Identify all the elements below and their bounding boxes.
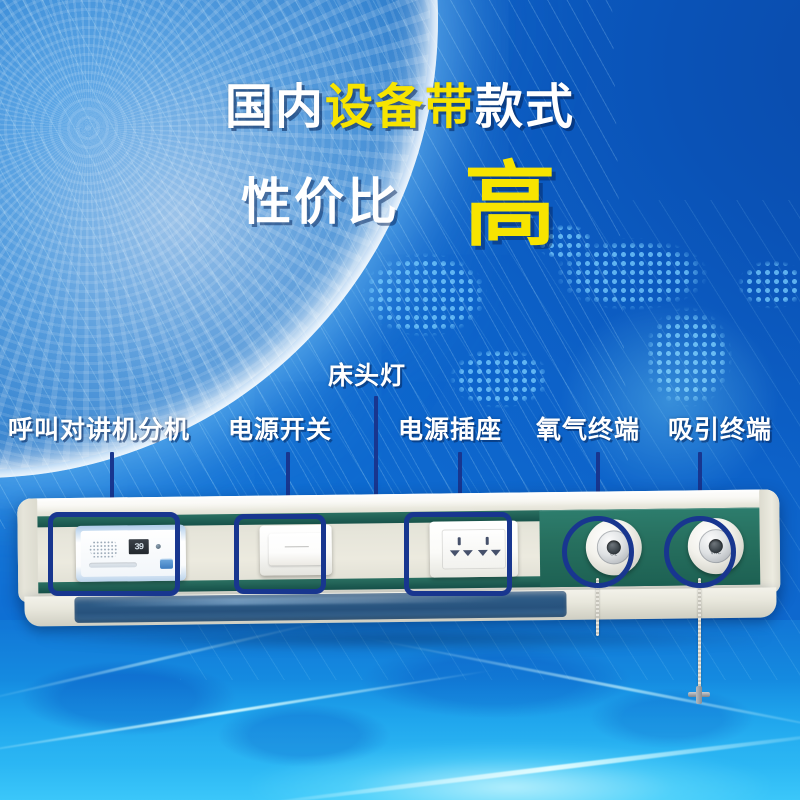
headline-price-ratio-text: 性价比 xyxy=(241,177,400,227)
intercom-call-button[interactable] xyxy=(160,559,173,569)
fitting-stem xyxy=(696,686,702,704)
status-led-icon xyxy=(156,544,161,549)
promo-banner: 国内设备带款式 性价比 高 床头灯 呼叫对讲机分机 电源开关 电源插座 氧气终端… xyxy=(0,0,800,800)
socket-inner-face xyxy=(442,529,506,570)
callout-label-oxygen-terminal: 氧气终端 xyxy=(536,410,640,446)
callout-label-group: 床头灯 呼叫对讲机分机 电源开关 电源插座 氧气终端 吸引终端 xyxy=(0,352,800,462)
socket-angled-slot xyxy=(450,550,460,556)
callout-label-intercom: 呼叫对讲机分机 xyxy=(8,410,190,446)
headline-emphasis-gao: 高 xyxy=(464,164,559,249)
socket-angled-slot xyxy=(478,550,488,556)
panel-end-cap-right xyxy=(759,489,780,595)
headline-line1-segment-white-b: 款式 xyxy=(475,81,575,134)
bed-head-unit-panel: 39 xyxy=(17,489,781,638)
terminal-port-hole xyxy=(709,539,723,553)
headline-block: 国内设备带款式 性价比 高 xyxy=(0,84,800,245)
oxygen-terminal-pull-cord[interactable] xyxy=(596,578,599,636)
nurse-call-intercom-unit[interactable]: 39 xyxy=(76,525,187,582)
callout-label-suction-terminal: 吸引终端 xyxy=(668,410,772,446)
panel-end-cap-left xyxy=(17,496,38,602)
rocker-detail-line xyxy=(285,546,309,547)
terminal-port-hole xyxy=(607,540,621,554)
intercom-face: 39 xyxy=(81,530,182,577)
intercom-microphone-slot xyxy=(89,562,137,568)
headline-line-1: 国内设备带款式 xyxy=(0,84,800,132)
intercom-display: 39 xyxy=(129,539,149,554)
socket-angled-slot xyxy=(491,550,501,556)
power-socket-plate[interactable] xyxy=(429,521,518,578)
rocker-switch[interactable] xyxy=(269,533,323,566)
socket-pin-slot xyxy=(486,537,489,545)
headline-line-2: 性价比 高 xyxy=(0,160,800,245)
power-switch-plate[interactable] xyxy=(260,525,333,576)
headline-line1-segment-white-a: 国内 xyxy=(225,81,325,134)
pull-cord-metal-fitting-icon xyxy=(688,686,710,704)
panel-body: 39 xyxy=(17,489,780,602)
suction-terminal-pull-cord[interactable] xyxy=(698,578,701,688)
callout-label-power-switch: 电源开关 xyxy=(228,410,332,446)
headline-line1-segment-yellow: 设备带 xyxy=(325,81,475,134)
speaker-grille-icon xyxy=(89,540,119,557)
callout-label-power-socket: 电源插座 xyxy=(398,410,502,446)
socket-pin-slot xyxy=(458,537,461,545)
callout-label-bed-lamp: 床头灯 xyxy=(328,356,406,392)
socket-angled-slot xyxy=(463,550,473,556)
